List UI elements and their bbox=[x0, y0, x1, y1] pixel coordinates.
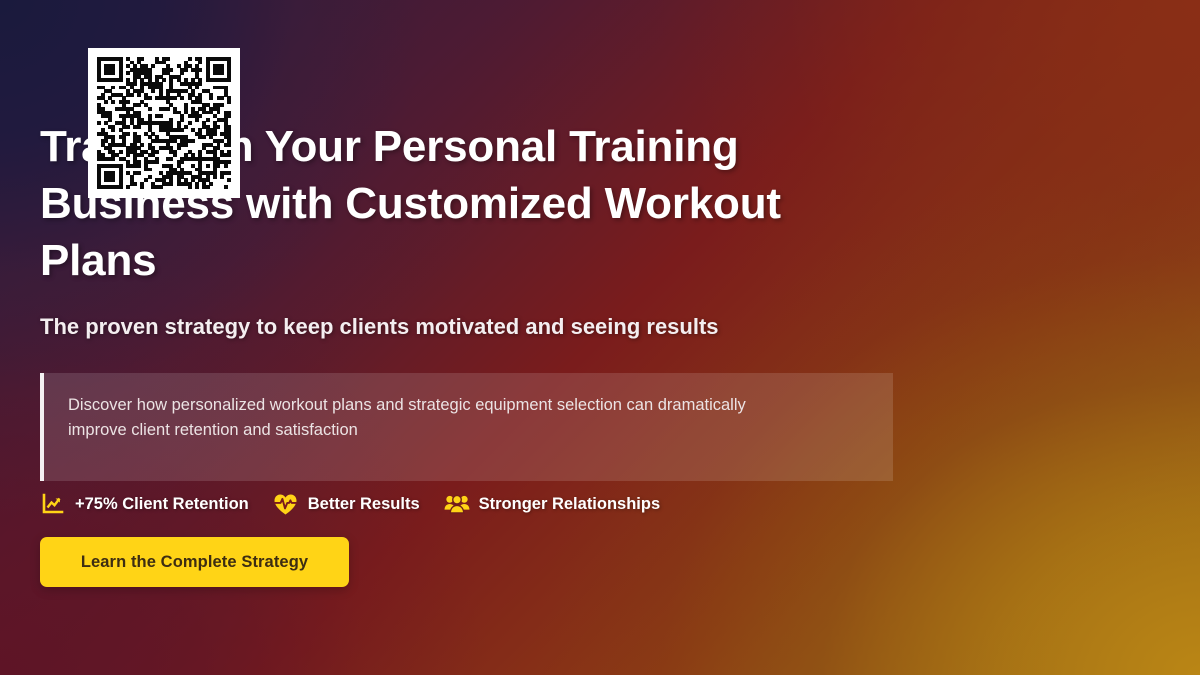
chart-line-icon bbox=[40, 491, 66, 517]
description-card: Discover how personalized workout plans … bbox=[40, 373, 893, 481]
qr-code[interactable] bbox=[88, 48, 240, 198]
stat-item-better-results: Better Results bbox=[273, 489, 420, 519]
page-subtitle: The proven strategy to keep clients moti… bbox=[40, 312, 900, 342]
hero-banner: Transform Your Personal Training Busines… bbox=[0, 0, 1200, 675]
stats-row: +75% Client Retention Better Results bbox=[40, 489, 660, 519]
stat-label: Stronger Relationships bbox=[479, 495, 661, 514]
stat-item-client-retention: +75% Client Retention bbox=[40, 489, 249, 519]
qr-code-modules bbox=[97, 57, 231, 189]
stat-item-stronger-relationships: Stronger Relationships bbox=[444, 489, 661, 519]
heart-pulse-icon bbox=[273, 491, 299, 517]
learn-strategy-button[interactable]: Learn the Complete Strategy bbox=[40, 537, 349, 587]
description-text: Discover how personalized workout plans … bbox=[68, 393, 768, 443]
stat-label: Better Results bbox=[308, 495, 420, 514]
stat-label: +75% Client Retention bbox=[75, 495, 249, 514]
hero-content: Transform Your Personal Training Busines… bbox=[40, 0, 1160, 675]
users-group-icon bbox=[444, 491, 470, 517]
